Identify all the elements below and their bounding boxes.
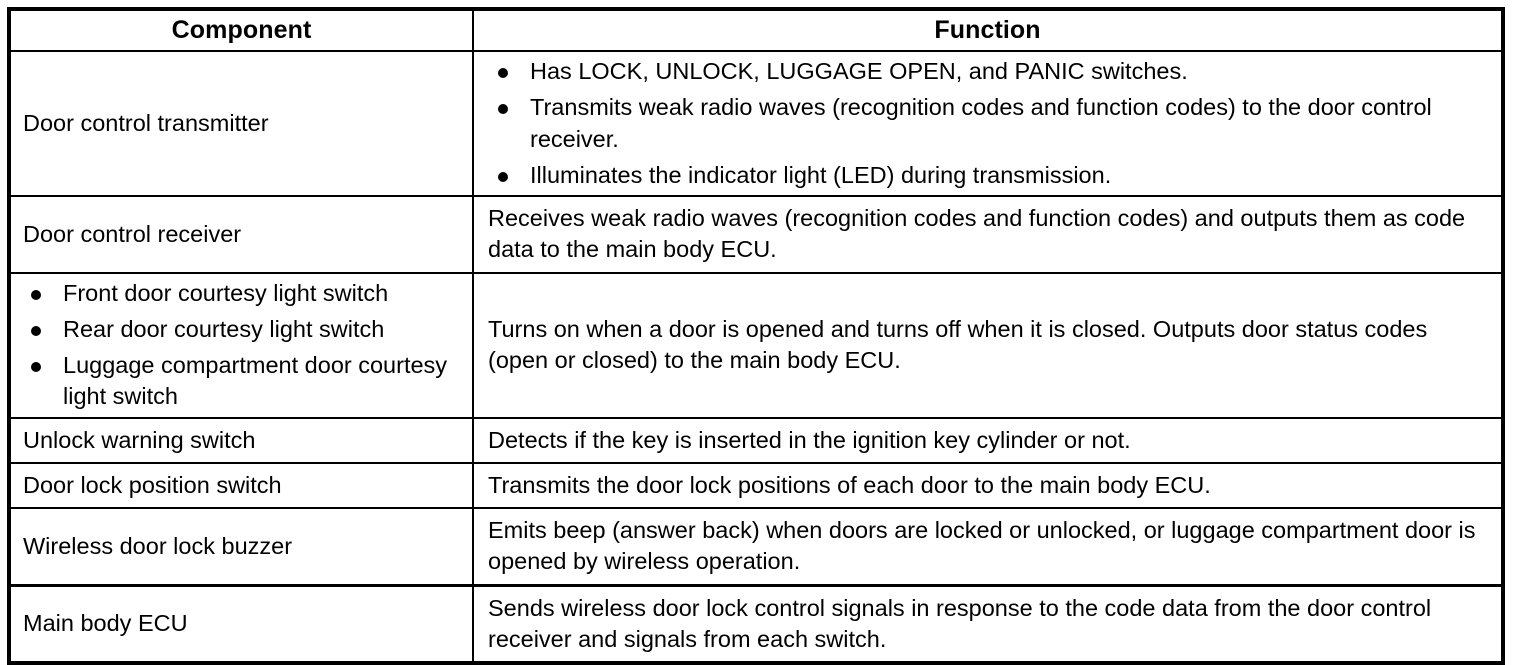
cell-component: Front door courtesy light switch Rear do… <box>9 273 473 418</box>
table-row: Door control transmitter Has LOCK, UNLOC… <box>9 51 1503 196</box>
bullet-icon <box>31 290 41 300</box>
cell-component: Door lock position switch <box>9 463 473 508</box>
function-text: Emits beep (answer back) when doors are … <box>474 509 1501 584</box>
component-label: Door lock position switch <box>11 464 472 507</box>
table-row: Door control receiver Receives weak radi… <box>9 196 1503 273</box>
bullet-icon <box>498 104 508 114</box>
list-item-label: Rear door courtesy light switch <box>63 316 384 342</box>
cell-component: Unlock warning switch <box>9 418 473 463</box>
document-page: Component Function Door control transmit… <box>0 0 1520 634</box>
column-header-function-label: Function <box>474 18 1501 43</box>
cell-function: Emits beep (answer back) when doors are … <box>473 508 1503 585</box>
function-text: Turns on when a door is opened and turns… <box>474 308 1501 383</box>
table-row: Door lock position switch Transmits the … <box>9 463 1503 508</box>
component-function-table: Component Function Door control transmit… <box>7 7 1505 665</box>
list-item: Has LOCK, UNLOCK, LUGGAGE OPEN, and PANI… <box>496 56 1487 87</box>
list-item-label: Has LOCK, UNLOCK, LUGGAGE OPEN, and PANI… <box>530 58 1188 84</box>
cell-function: Turns on when a door is opened and turns… <box>473 273 1503 418</box>
table-body: Door control transmitter Has LOCK, UNLOC… <box>9 51 1503 663</box>
component-label: Main body ECU <box>11 602 472 645</box>
list-item: Transmits weak radio waves (recognition … <box>496 92 1487 155</box>
component-label: Unlock warning switch <box>11 419 472 462</box>
function-text: Detects if the key is inserted in the ig… <box>474 419 1501 462</box>
function-bullet-list: Has LOCK, UNLOCK, LUGGAGE OPEN, and PANI… <box>474 52 1501 195</box>
table-header-row: Component Function <box>9 9 1503 51</box>
table-row: Unlock warning switch Detects if the key… <box>9 418 1503 463</box>
cell-function: Detects if the key is inserted in the ig… <box>473 418 1503 463</box>
list-item-label: Transmits weak radio waves (recognition … <box>530 94 1432 151</box>
component-label: Wireless door lock buzzer <box>11 525 472 568</box>
cell-function: Transmits the door lock positions of eac… <box>473 463 1503 508</box>
list-item: Illuminates the indicator light (LED) du… <box>496 160 1487 191</box>
column-header-component: Component <box>9 9 473 51</box>
table-header: Component Function <box>9 9 1503 51</box>
table-row: Front door courtesy light switch Rear do… <box>9 273 1503 418</box>
list-item-label: Luggage compartment door courtesy light … <box>63 352 447 409</box>
cell-component: Door control receiver <box>9 196 473 273</box>
table-row: Main body ECU Sends wireless door lock c… <box>9 585 1503 663</box>
list-item: Front door courtesy light switch <box>29 278 464 309</box>
cell-function: Receives weak radio waves (recognition c… <box>473 196 1503 273</box>
list-item-label: Front door courtesy light switch <box>63 280 388 306</box>
table-row: Wireless door lock buzzer Emits beep (an… <box>9 508 1503 585</box>
cell-component: Main body ECU <box>9 585 473 663</box>
component-bullet-list: Front door courtesy light switch Rear do… <box>11 274 472 417</box>
function-text: Sends wireless door lock control signals… <box>474 587 1501 662</box>
bullet-icon <box>498 172 508 182</box>
bullet-icon <box>498 68 508 78</box>
column-header-function: Function <box>473 9 1503 51</box>
cell-function: Sends wireless door lock control signals… <box>473 585 1503 663</box>
cell-component: Door control transmitter <box>9 51 473 196</box>
function-text: Receives weak radio waves (recognition c… <box>474 197 1501 272</box>
component-label: Door control transmitter <box>11 102 472 145</box>
list-item-label: Illuminates the indicator light (LED) du… <box>530 162 1111 188</box>
list-item: Luggage compartment door courtesy light … <box>29 350 464 413</box>
bullet-icon <box>31 326 41 336</box>
component-label: Door control receiver <box>11 213 472 256</box>
list-item: Rear door courtesy light switch <box>29 314 464 345</box>
bullet-icon <box>31 362 41 372</box>
cell-component: Wireless door lock buzzer <box>9 508 473 585</box>
function-text: Transmits the door lock positions of eac… <box>474 464 1501 507</box>
column-header-component-label: Component <box>11 18 472 43</box>
cell-function: Has LOCK, UNLOCK, LUGGAGE OPEN, and PANI… <box>473 51 1503 196</box>
